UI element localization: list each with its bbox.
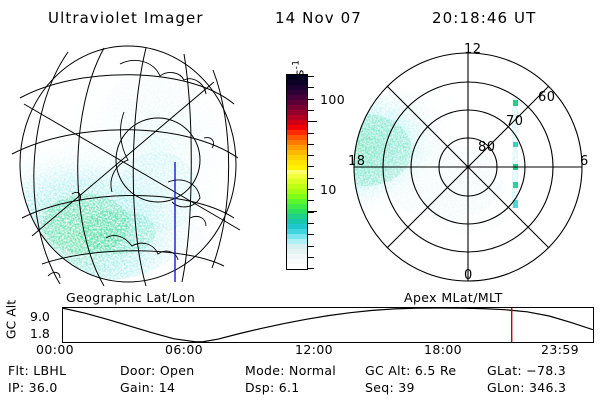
colorbar-major-tick [308,211,317,212]
header-bar: Ultraviolet Imager 14 Nov 07 20:18:46 UT [0,6,600,32]
strip-xtick-2: 12:00 [295,342,333,357]
colorbar-minor-tick [308,234,314,235]
polar-grid-layer [354,53,582,281]
right-panel-caption: Apex MLat/MLT [404,290,503,305]
footer-filter: Flt: LBHL [8,363,66,378]
polar-dial-svg [352,42,598,294]
strip-ytick-bottom: 1.8 [30,326,50,341]
colorbar-minor-tick [308,110,314,111]
orbit-altitude-strip-panel: Geographic Lat/Lon Apex MLat/MLT GC Alt … [0,290,600,356]
apex-polar-panel: 12 6 0 18 60 70 80 [352,42,598,294]
geographic-globe-panel [8,42,253,292]
colorbar-minor-tick [308,268,314,269]
mlat-label-60: 60 [538,90,556,105]
observation-date: 14 Nov 07 [275,9,362,27]
colorbar-minor-tick [308,246,314,247]
footer-door: Door: Open [120,363,194,378]
colorbar-minor-tick [308,87,314,88]
colorbar-tick-label-100: 100 [320,92,345,107]
colorbar-major-tick [308,121,317,122]
footer-dsp: Dsp: 6.1 [245,380,300,395]
strip-ytick-top: 9.0 [30,309,50,324]
instrument-title: Ultraviolet Imager [48,9,204,27]
colorbar-segment [287,264,307,269]
footer-gcalt: GC Alt: 6.5 Re [365,363,456,378]
strip-chart-plot [63,308,593,342]
mlat-label-70: 70 [506,114,524,129]
colorbar-gradient [286,74,308,270]
colorbar-minor-tick [308,155,314,156]
observation-time: 20:18:46 UT [432,9,536,27]
globe-svg [8,42,253,292]
footer-ip: IP: 36.0 [8,380,58,395]
status-footer: Flt: LBHL IP: 36.0 Door: Open Gain: 14 M… [0,363,600,399]
mlt-label-12: 12 [464,42,482,57]
footer-gain: Gain: 14 [120,380,175,395]
aurora-emission-layer [10,70,226,280]
colorbar-minor-tick [308,189,314,190]
strip-xtick-3: 18:00 [424,342,462,357]
colorbar-minor-tick [308,257,314,258]
colorbar-minor-tick [308,178,314,179]
colorbar-unit-exp2: -1 [291,60,301,70]
mlt-label-6: 6 [580,154,589,169]
strip-y-axis-label: GC Alt [4,295,19,345]
colorbar-minor-tick [308,133,314,134]
colorbar-panel: photon cm-2s-1 100 10 [258,52,354,292]
left-panel-caption: Geographic Lat/Lon [66,290,195,305]
colorbar-minor-tick [308,144,314,145]
mlt-label-18: 18 [348,154,366,169]
footer-glat: GLat: −78.3 [487,363,566,378]
colorbar-minor-tick [308,200,314,201]
colorbar-minor-tick [308,166,314,167]
strip-xtick-4: 23:59 [541,342,579,357]
strip-xtick-1: 06:00 [165,342,203,357]
footer-seq: Seq: 39 [365,380,415,395]
colorbar-minor-tick [308,223,314,224]
footer-glon: GLon: 346.3 [487,380,566,395]
strip-xtick-0: 00:00 [36,342,74,357]
mlt-label-0: 0 [464,268,473,283]
orbit-altitude-trace [63,308,593,342]
colorbar-tick-label-10: 10 [320,182,337,197]
colorbar-ticks [308,74,316,270]
colorbar-minor-tick [308,99,314,100]
mlat-label-80: 80 [478,140,496,155]
strip-chart-frame [62,307,594,343]
colorbar-minor-tick [308,76,314,77]
footer-mode: Mode: Normal [245,363,336,378]
